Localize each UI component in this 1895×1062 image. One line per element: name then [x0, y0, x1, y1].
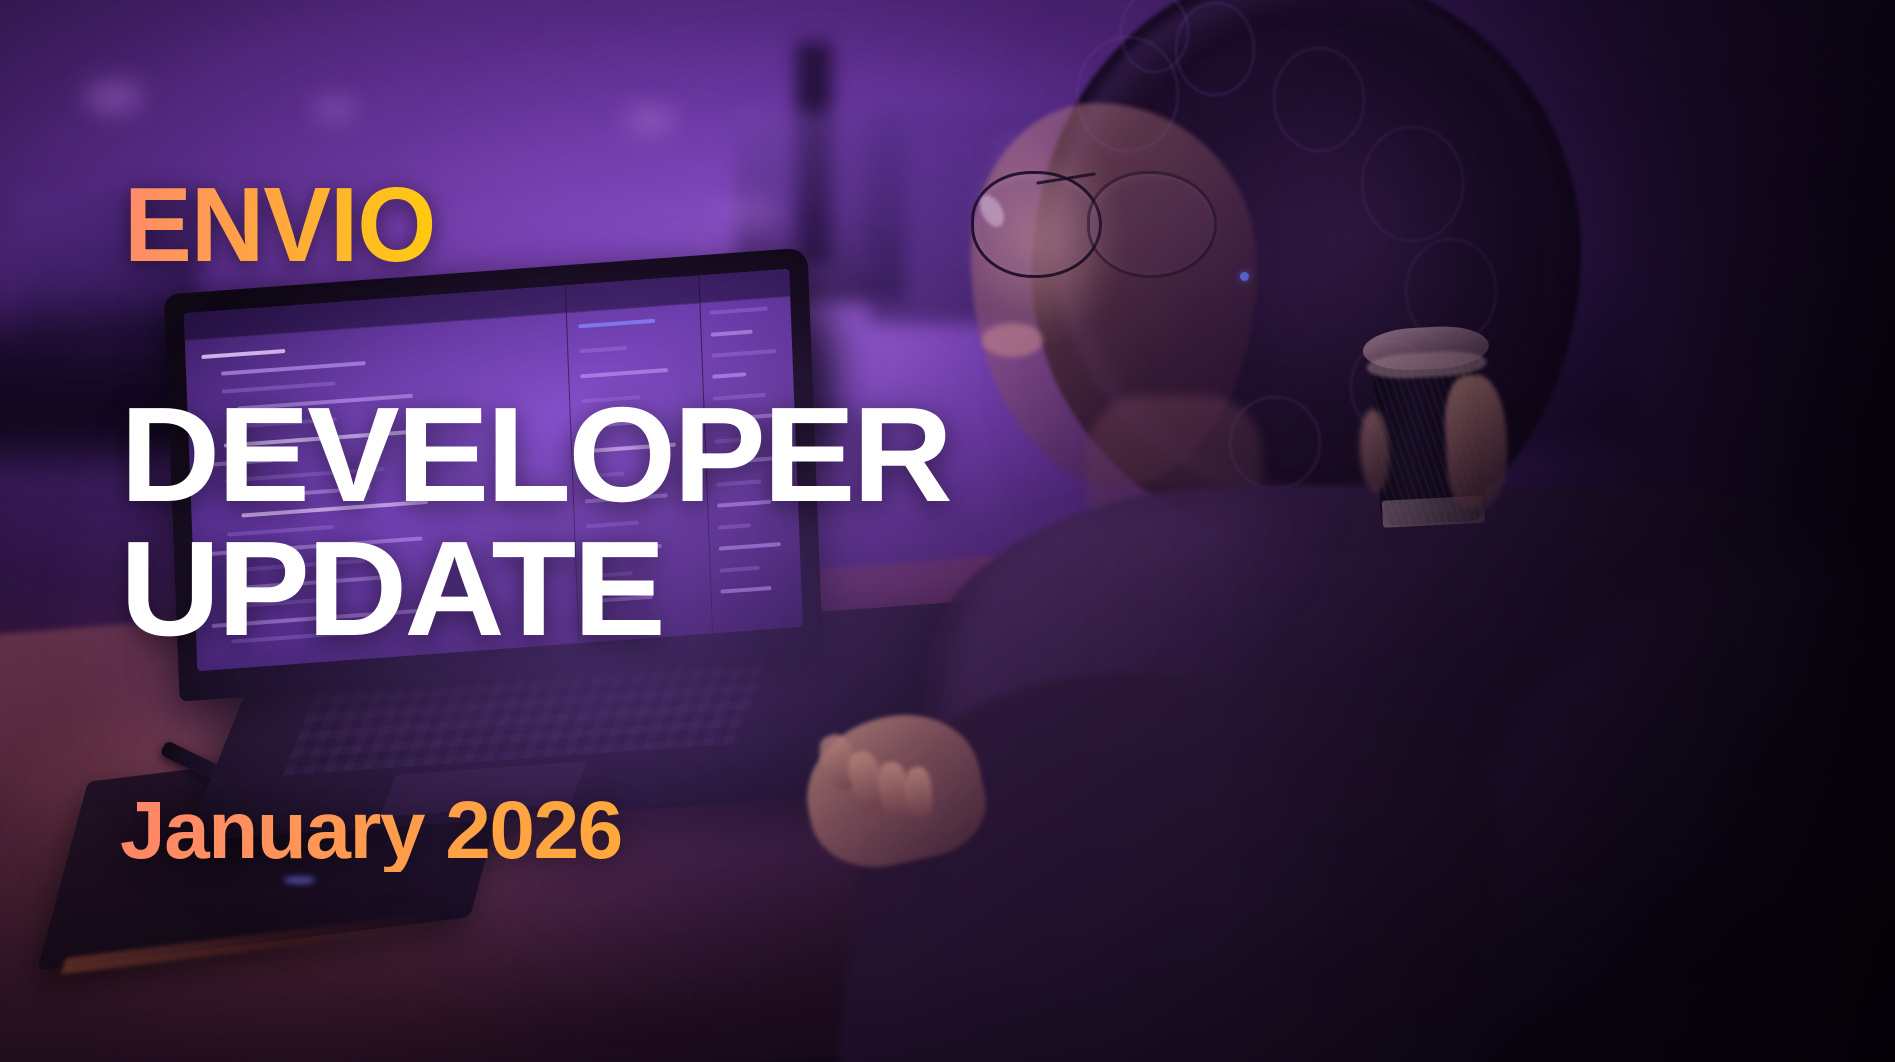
headline-line-1: DEVELOPER [120, 392, 950, 518]
text-overlay: ENVIO DEVELOPER UPDATE January 2026 [0, 0, 1895, 1062]
headline-line-2: UPDATE [120, 526, 950, 652]
issue-date: January 2026 [120, 790, 622, 872]
envio-logo-wordmark: ENVIO [124, 173, 435, 279]
developer-update-banner: ENVIO DEVELOPER UPDATE January 2026 [0, 0, 1895, 1062]
page-title: DEVELOPER UPDATE [120, 392, 926, 651]
